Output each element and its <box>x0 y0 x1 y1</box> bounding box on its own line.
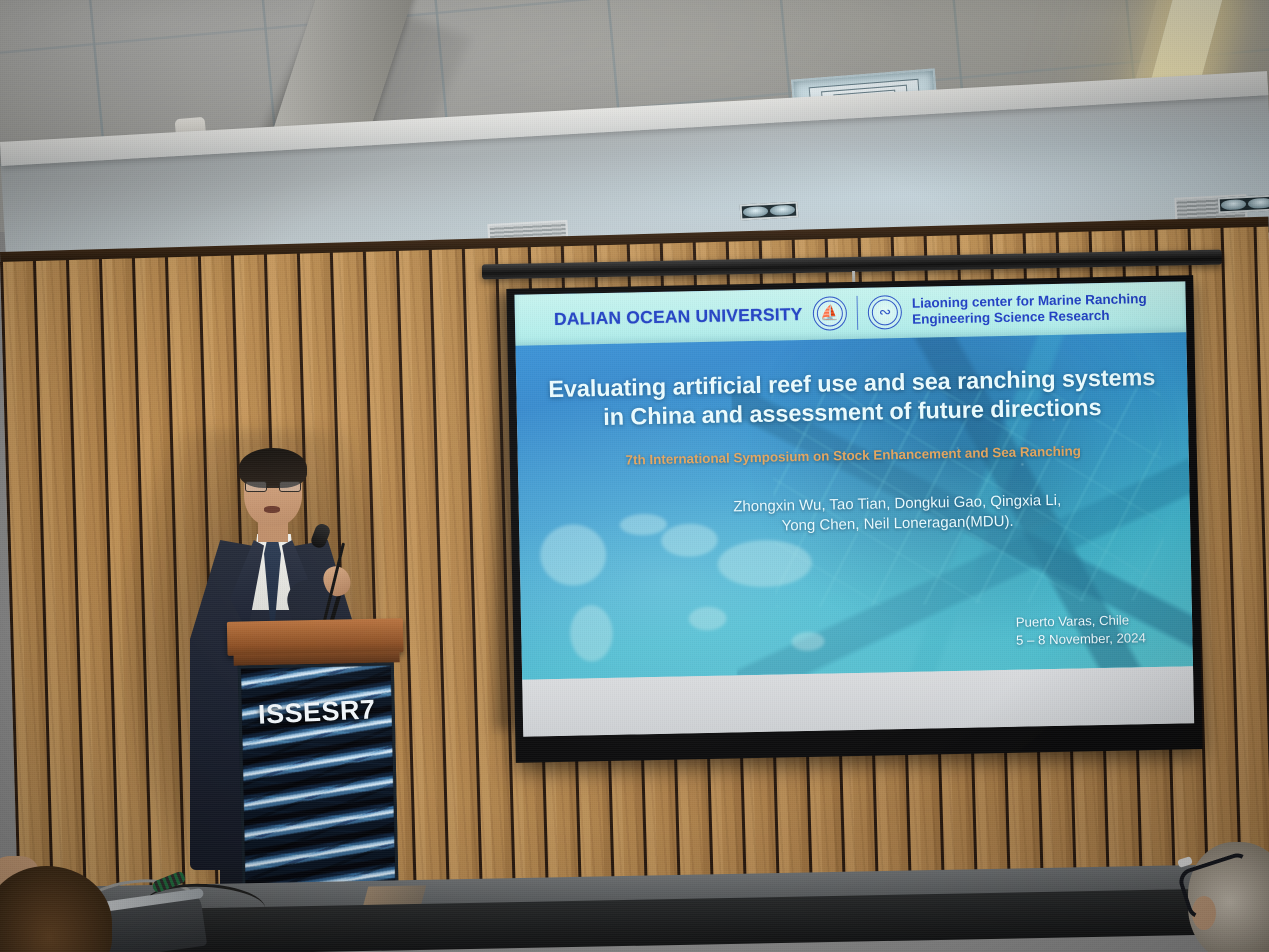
podium-top <box>227 618 404 656</box>
slide-subtitle: 7th International Symposium on Stock Enh… <box>546 442 1161 469</box>
venue-location: Puerto Varas, Chile <box>1016 613 1130 630</box>
center-name-line2: Engineering Science Research <box>912 308 1110 327</box>
podium: ISSESR7 <box>229 618 407 924</box>
projection-screen: DALIAN OCEAN UNIVERSITY ⛵ ∾ Liaoning cen… <box>506 275 1202 763</box>
screen-frame: DALIAN OCEAN UNIVERSITY ⛵ ∾ Liaoning cen… <box>506 275 1202 763</box>
slide-text-content: Evaluating artificial reef use and sea r… <box>515 332 1193 679</box>
speaker-glasses-icon <box>244 481 302 492</box>
recessed-downlight-icon <box>1218 194 1269 213</box>
screen-blank-area <box>522 666 1194 737</box>
speaker-mouth <box>264 506 280 513</box>
presentation-photo: DALIAN OCEAN UNIVERSITY ⛵ ∾ Liaoning cen… <box>0 0 1269 952</box>
dalian-ocean-university-seal-icon: ⛵ <box>812 296 847 331</box>
research-center-name: Liaoning center for Marine Ranching Engi… <box>912 292 1147 329</box>
authors-line2: Yong Chen, Neil Loneragan(MDU). <box>781 513 1013 535</box>
liaoning-marine-ranching-seal-icon: ∾ <box>868 295 903 330</box>
recessed-downlight-icon <box>740 201 799 220</box>
seal-divider <box>856 296 858 330</box>
presentation-slide: DALIAN OCEAN UNIVERSITY ⛵ ∾ Liaoning cen… <box>514 281 1193 679</box>
event-dates: 5 – 8 November, 2024 <box>1016 630 1146 648</box>
slide-authors: Zhongxin Wu, Tao Tian, Dongkui Gao, Qing… <box>547 489 1162 541</box>
center-name-line1: Liaoning center for Marine Ranching <box>912 292 1147 312</box>
screen-surface: DALIAN OCEAN UNIVERSITY ⛵ ∾ Liaoning cen… <box>514 281 1194 736</box>
university-name: DALIAN OCEAN UNIVERSITY <box>554 304 803 330</box>
slide-title: Evaluating artificial reef use and sea r… <box>544 363 1160 433</box>
slide-venue-date: Puerto Varas, Chile 5 – 8 November, 2024 <box>1016 611 1165 649</box>
